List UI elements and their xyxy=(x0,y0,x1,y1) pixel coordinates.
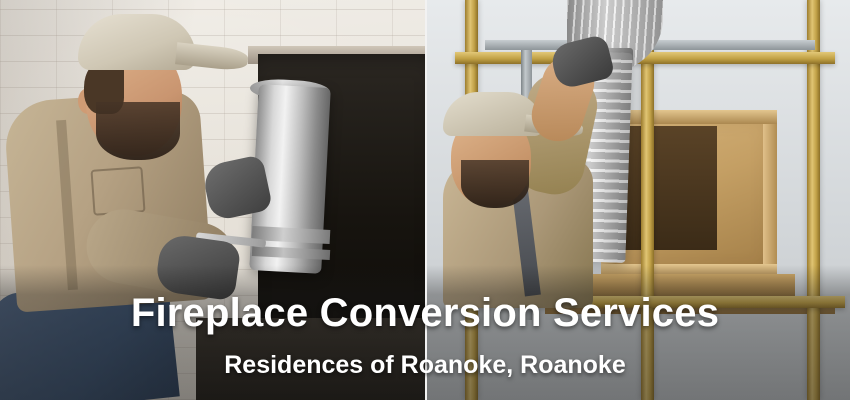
shirt-pocket xyxy=(90,166,145,216)
location-subtitle: Residences of Roanoke, Roanoke xyxy=(0,351,850,380)
chase-opening xyxy=(621,126,717,250)
worker-beard-right xyxy=(461,160,529,208)
chase-frame-right xyxy=(763,110,777,280)
worker-beard xyxy=(96,102,180,160)
service-banner: Fireplace Conversion Services Residences… xyxy=(0,0,850,400)
page-title: Fireplace Conversion Services xyxy=(0,291,850,335)
banner-text: Fireplace Conversion Services Residences… xyxy=(0,291,850,380)
